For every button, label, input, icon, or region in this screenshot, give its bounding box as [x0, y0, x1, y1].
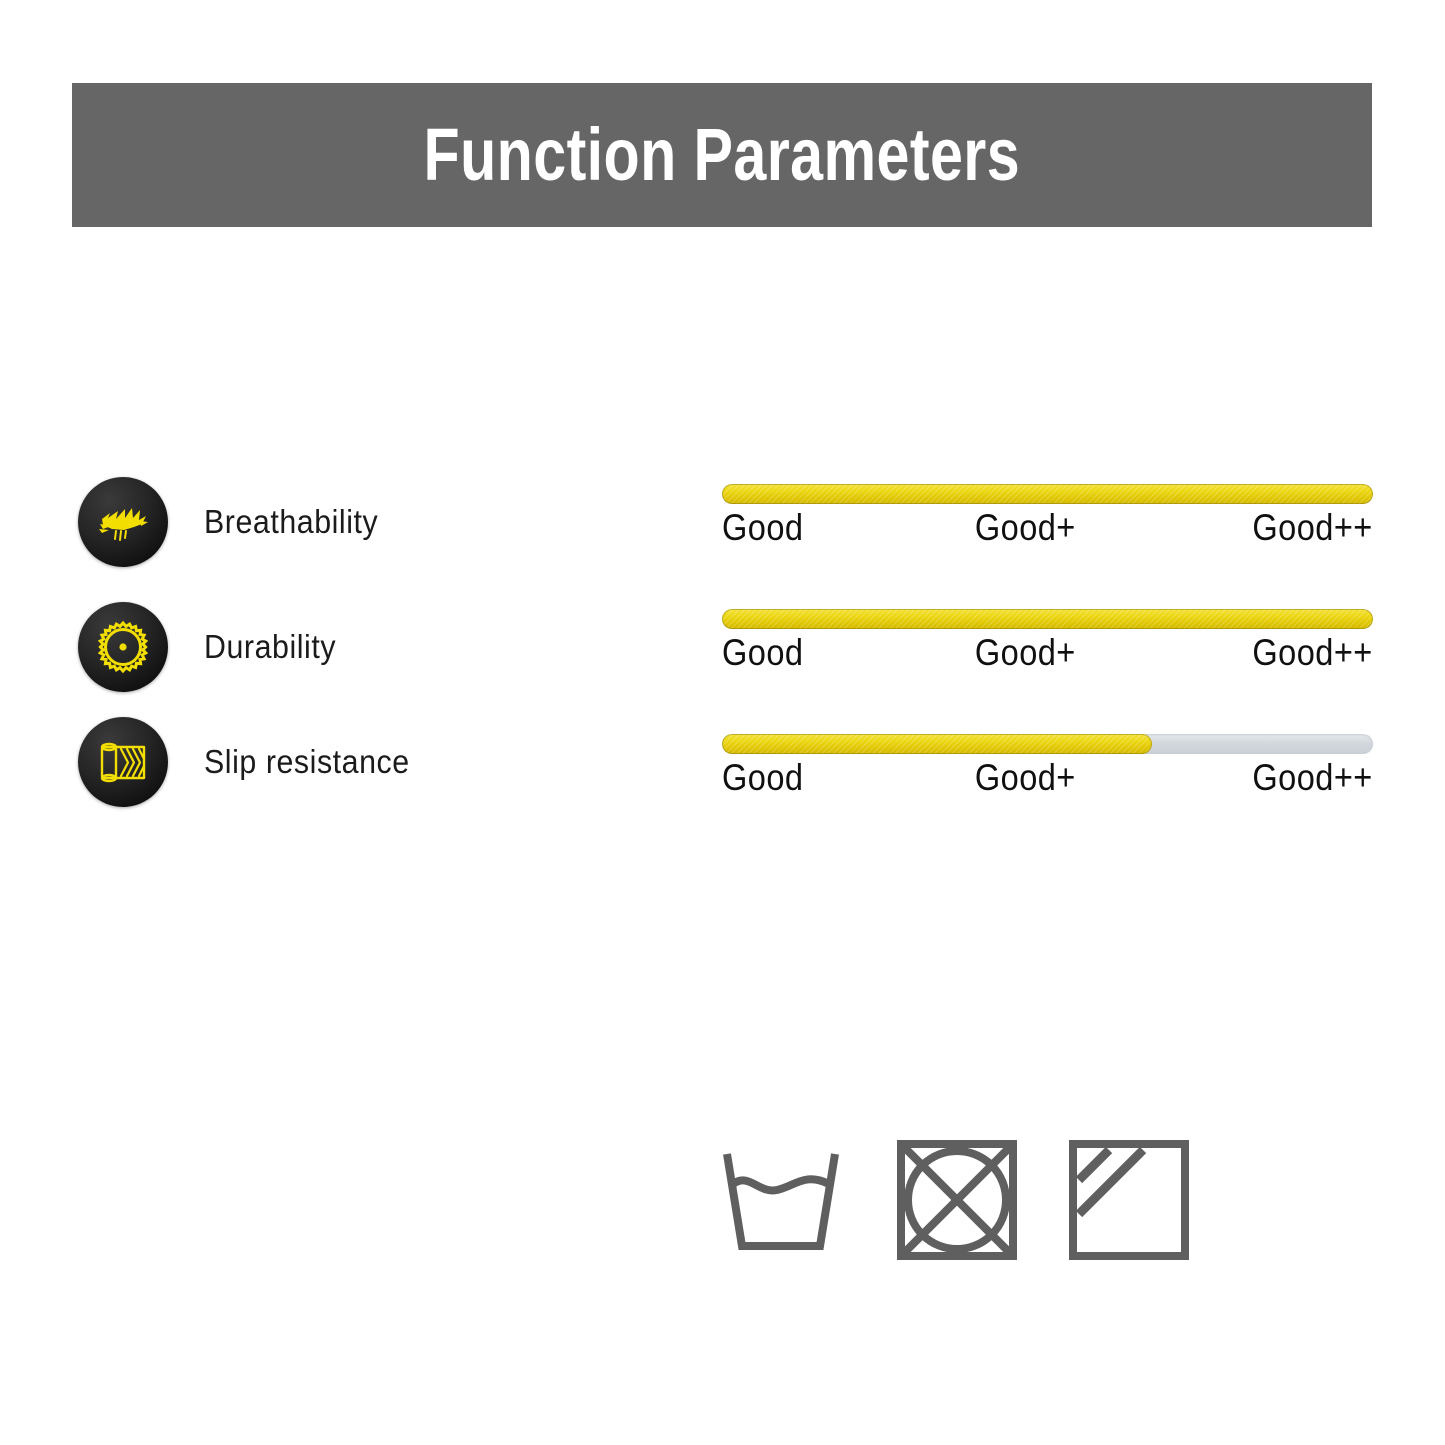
rating-scale: Good Good+ Good++ — [722, 759, 1373, 798]
rating-scale: Good Good+ Good++ — [722, 634, 1373, 673]
saw-blade-icon — [78, 602, 168, 692]
scale-label-good: Good — [722, 634, 803, 673]
no-tumble-dry-icon — [895, 1138, 1019, 1262]
parameter-right-breathability: Good Good+ Good++ — [722, 484, 1373, 548]
parameter-right-slip-resistance: Good Good+ Good++ — [722, 734, 1373, 798]
care-symbol-row — [715, 1138, 1191, 1262]
parameter-row-durability: Durability Good Good+ Good++ — [0, 595, 1445, 720]
header-banner: Function Parameters — [72, 83, 1372, 227]
rating-scale: Good Good+ Good++ — [722, 509, 1373, 548]
scale-label-good: Good — [722, 509, 803, 548]
mat-roll-icon — [78, 717, 168, 807]
parameter-left-slip-resistance: Slip resistance — [78, 712, 428, 812]
parameter-label: Breathability — [204, 503, 378, 541]
wash-tub-icon — [715, 1138, 847, 1258]
parameter-label: Slip resistance — [204, 743, 410, 781]
parameter-right-durability: Good Good+ Good++ — [722, 609, 1373, 673]
scale-label-good-plus-plus: Good++ — [1253, 634, 1373, 673]
page-title: Function Parameters — [424, 118, 1020, 192]
parameter-row-slip-resistance: Slip resistance Good Good+ Good++ — [0, 720, 1445, 845]
airflow-icon — [78, 477, 168, 567]
function-parameters-page: Function Parameters — [0, 0, 1445, 1445]
scale-label-good: Good — [722, 759, 803, 798]
parameter-left-breathability: Breathability — [78, 472, 393, 572]
parameter-left-durability: Durability — [78, 597, 348, 697]
rating-bar-fill — [722, 609, 1373, 629]
parameter-row-breathability: Breathability Good Good+ Good++ — [0, 470, 1445, 595]
parameter-label: Durability — [204, 628, 336, 666]
dry-in-shade-icon — [1067, 1138, 1191, 1262]
scale-label-good-plus: Good+ — [975, 759, 1076, 798]
rating-bar-track[interactable] — [722, 734, 1373, 754]
scale-label-good-plus-plus: Good++ — [1253, 509, 1373, 548]
parameter-list: Breathability Good Good+ Good++ — [0, 470, 1445, 845]
rating-bar-fill — [722, 734, 1152, 754]
scale-label-good-plus-plus: Good++ — [1253, 759, 1373, 798]
scale-label-good-plus: Good+ — [975, 634, 1076, 673]
scale-label-good-plus: Good+ — [975, 509, 1076, 548]
rating-bar-track[interactable] — [722, 484, 1373, 504]
rating-bar-fill — [722, 484, 1373, 504]
rating-bar-track[interactable] — [722, 609, 1373, 629]
